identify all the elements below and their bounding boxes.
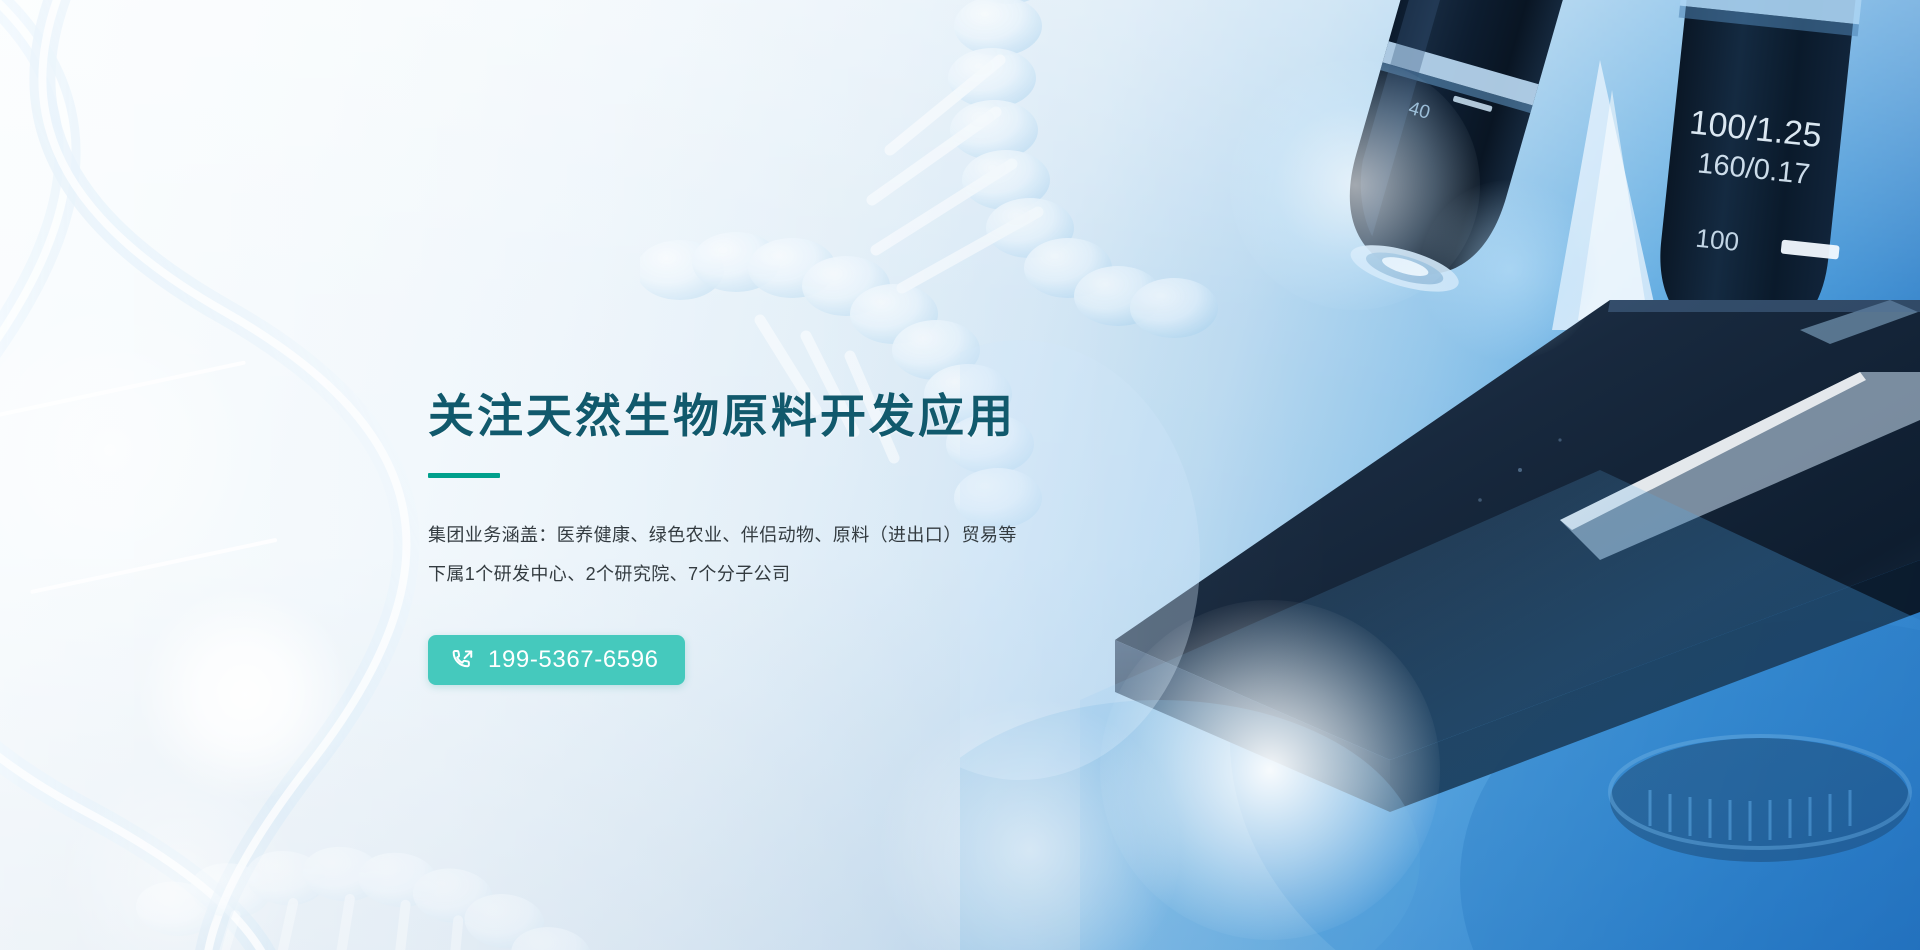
hero-description: 集团业务涵盖：医养健康、绿色农业、伴侣动物、原料（进出口）贸易等 下属1个研发中… [428, 516, 1188, 593]
phone-number-label: 199-5367-6596 [488, 648, 659, 672]
hero-banner: 40 100/1.25 160/0.17 [0, 0, 1920, 950]
hero-content: 关注天然生物原料开发应用 集团业务涵盖：医养健康、绿色农业、伴侣动物、原料（进出… [428, 390, 1188, 685]
call-phone-button[interactable]: 199-5367-6596 [428, 635, 685, 685]
hero-description-line-2: 下属1个研发中心、2个研究院、7个分子公司 [428, 555, 1188, 594]
hero-description-line-1: 集团业务涵盖：医养健康、绿色农业、伴侣动物、原料（进出口）贸易等 [428, 516, 1188, 555]
page-title: 关注天然生物原料开发应用 [428, 390, 1188, 443]
accent-divider [428, 473, 500, 478]
phone-forward-icon [450, 648, 475, 673]
